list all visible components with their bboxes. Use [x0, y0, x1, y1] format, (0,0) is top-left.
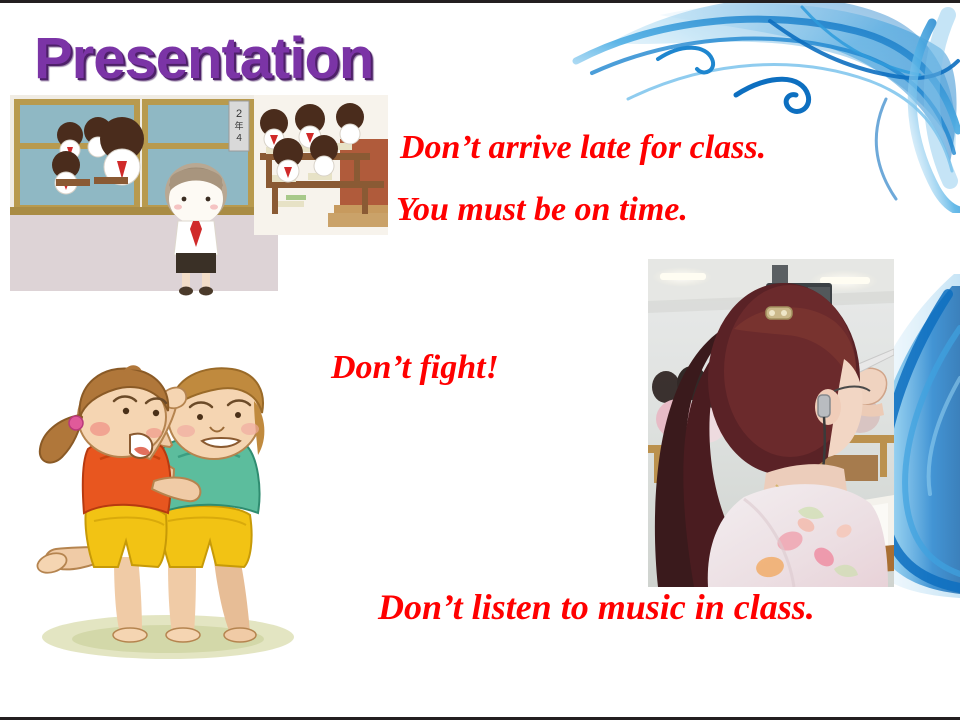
svg-text:2: 2 — [236, 108, 242, 120]
caption-dont-fight: Don’t fight! — [331, 351, 499, 385]
svg-text:４: ４ — [234, 133, 243, 143]
blue-ribbon-swirl-top-right-icon — [540, 3, 960, 213]
late-student-classroom-illustration: 2 年 ４ — [10, 95, 388, 298]
page-title: Presentation — [34, 25, 373, 92]
caption-be-on-time: You must be on time. — [396, 193, 688, 227]
caption-dont-listen-music: Don’t listen to music in class. — [378, 589, 815, 625]
svg-text:年: 年 — [234, 120, 243, 131]
student-listening-music-photo — [648, 259, 894, 587]
caption-arrive-late: Don’t arrive late for class. — [400, 131, 766, 165]
presentation-slide: Presentation — [0, 0, 960, 720]
children-fighting-illustration — [18, 361, 318, 671]
